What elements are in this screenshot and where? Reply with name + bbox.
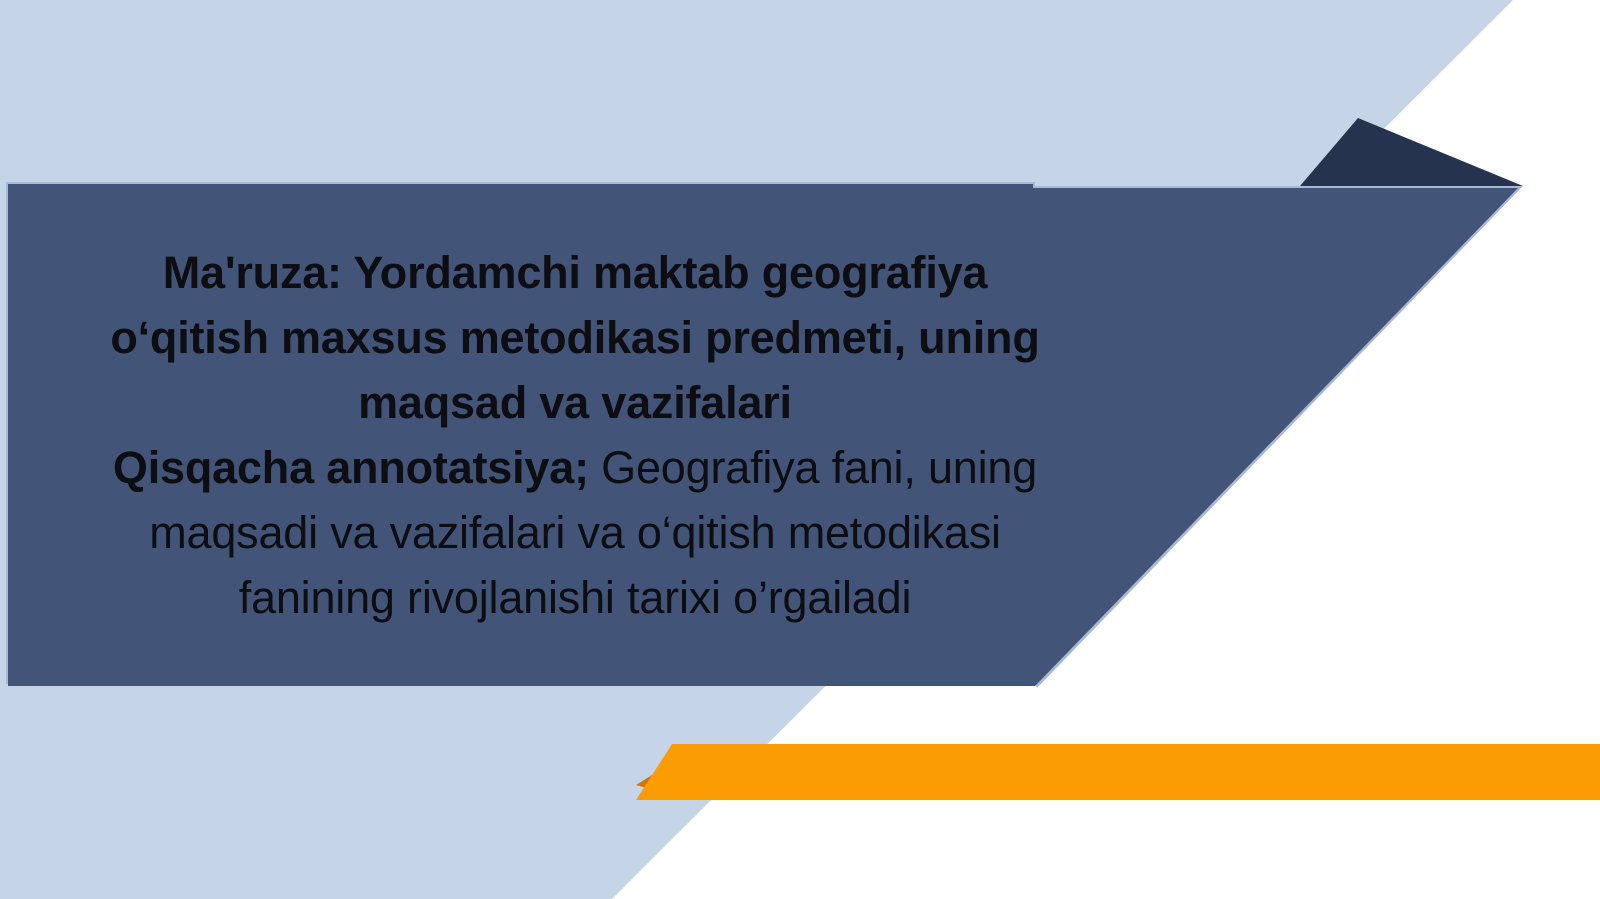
title-line-3: maqsad va vazifalari [20, 370, 1130, 435]
presentation-slide: Ma'ruza: Yordamchi maktab geografiya o‘q… [0, 0, 1600, 899]
annotation-line-1-rest: Geografiya fani, uning [589, 442, 1037, 493]
slide-text-block: Ma'ruza: Yordamchi maktab geografiya o‘q… [0, 182, 1160, 688]
navy-fold-triangle [1300, 118, 1523, 186]
body-line-2: maqsadi va vazifalari va o‘qitish metodi… [20, 500, 1130, 565]
title-line-2: o‘qitish maxsus metodikasi predmeti, uni… [20, 305, 1130, 370]
body-line-1: Qisqacha annotatsiya; Geografiya fani, u… [20, 435, 1130, 500]
title-line-1: Ma'ruza: Yordamchi maktab geografiya [20, 240, 1130, 305]
annotation-label: Qisqacha annotatsiya; [113, 442, 589, 493]
orange-ribbon-shape [636, 744, 1600, 800]
body-line-3: fanining rivojlanishi tarixi o’rgailadi [20, 565, 1130, 630]
